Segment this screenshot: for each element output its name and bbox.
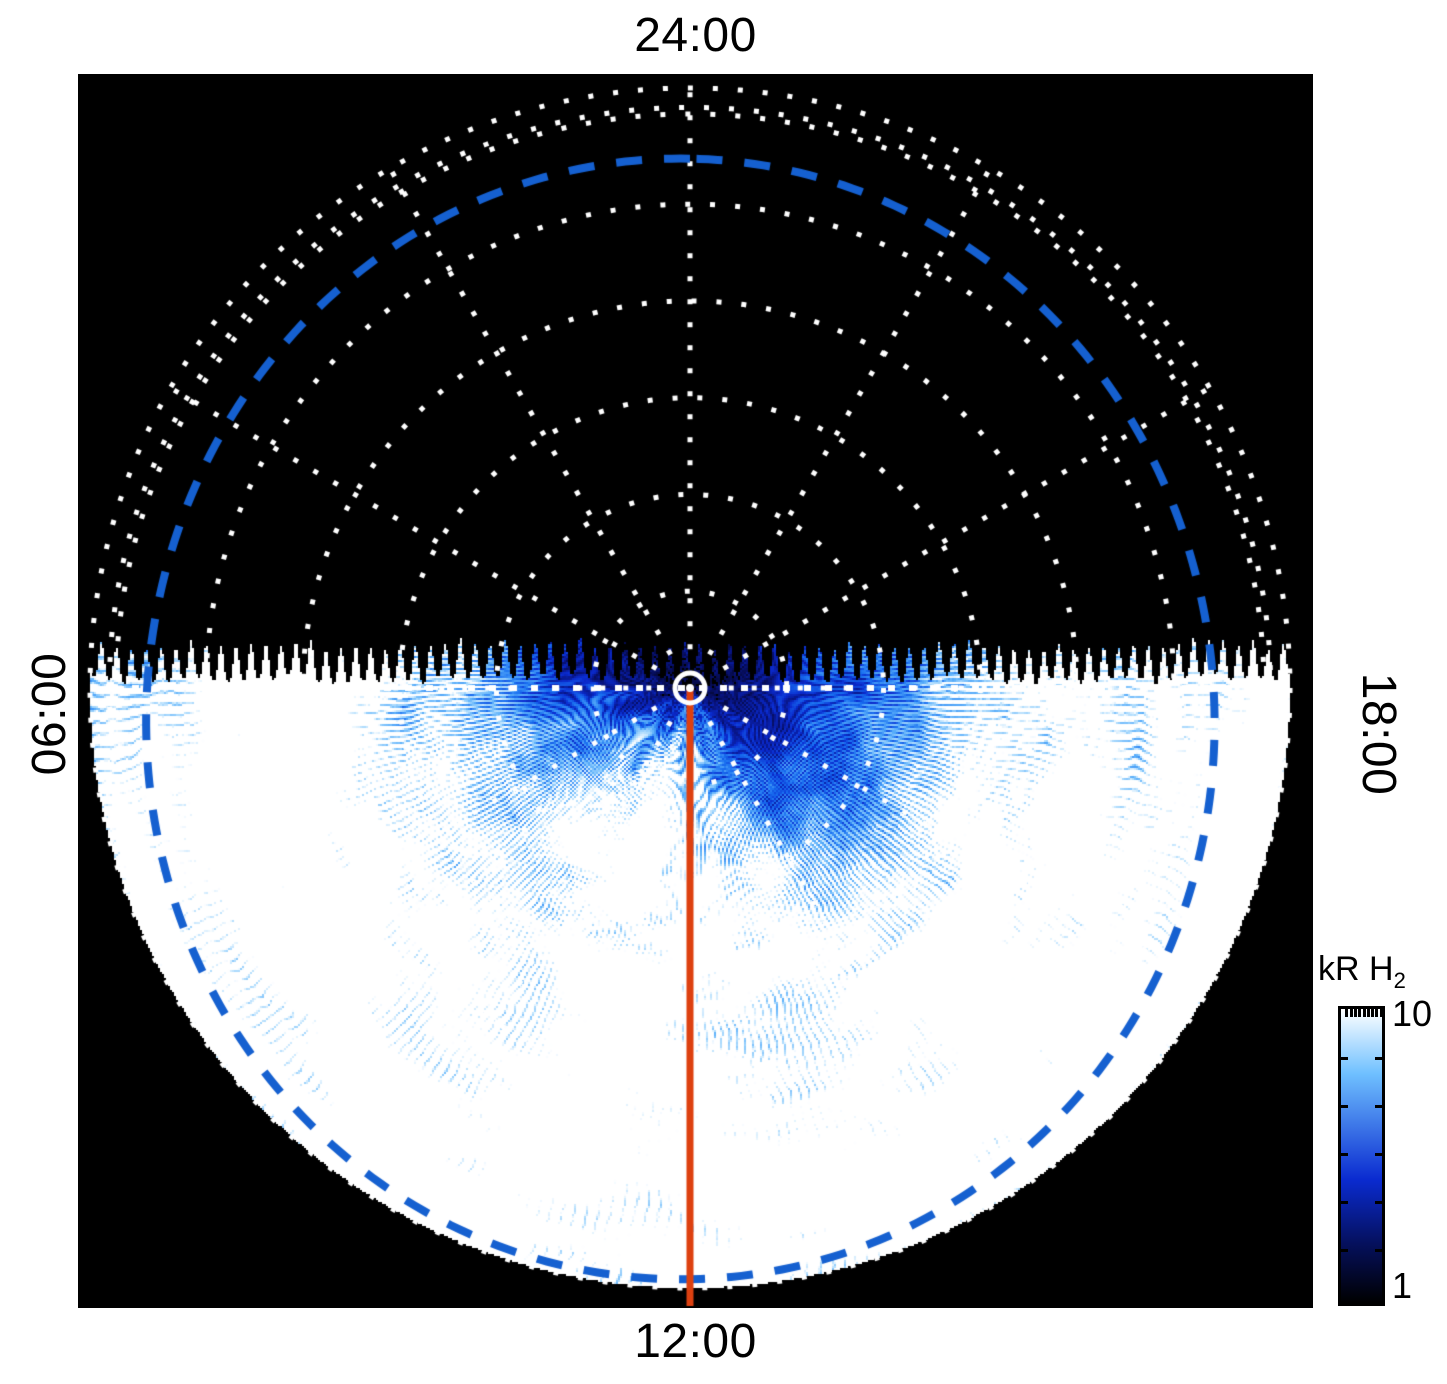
colorbar-minor-tick [1358, 1009, 1361, 1017]
figure-root: 24:00 12:00 06:00 18:00 kR H2 10 1 [0, 0, 1447, 1384]
aurora-heatmap-canvas [78, 74, 1313, 1308]
colorbar-title-main: kR H [1318, 950, 1394, 988]
colorbar-tick [1341, 1057, 1348, 1060]
colorbar-tick [1375, 1153, 1382, 1156]
colorbar-min-label: 1 [1392, 1268, 1412, 1304]
colorbar: kR H2 10 1 [1318, 952, 1447, 1322]
colorbar-minor-tick [1354, 1009, 1357, 1017]
colorbar-title-subscript: 2 [1394, 968, 1406, 993]
colorbar-tick [1341, 1105, 1348, 1108]
axis-label-right: 18:00 [1354, 624, 1402, 844]
colorbar-minor-tick [1375, 1009, 1378, 1017]
colorbar-max-label: 10 [1392, 996, 1432, 1032]
colorbar-tick [1341, 1201, 1348, 1204]
colorbar-minor-tick [1350, 1009, 1353, 1017]
colorbar-tick [1375, 1201, 1382, 1204]
colorbar-frame [1338, 1006, 1385, 1306]
polar-plot-panel [78, 74, 1313, 1308]
colorbar-tick [1375, 1249, 1382, 1252]
colorbar-minor-tick [1345, 1009, 1348, 1017]
axis-label-bottom: 12:00 [0, 1318, 1391, 1366]
colorbar-title: kR H2 [1318, 952, 1406, 992]
colorbar-tick [1341, 1153, 1348, 1156]
colorbar-minor-tick [1380, 1009, 1383, 1017]
colorbar-minor-tick [1371, 1009, 1374, 1017]
colorbar-tick [1341, 1249, 1348, 1252]
axis-label-top: 24:00 [0, 12, 1391, 60]
colorbar-minor-tick [1367, 1009, 1370, 1017]
axis-label-left: 06:00 [26, 604, 74, 824]
colorbar-tick [1375, 1057, 1382, 1060]
colorbar-minor-tick [1363, 1009, 1366, 1017]
colorbar-tick [1375, 1105, 1382, 1108]
colorbar-gradient [1341, 1009, 1382, 1303]
